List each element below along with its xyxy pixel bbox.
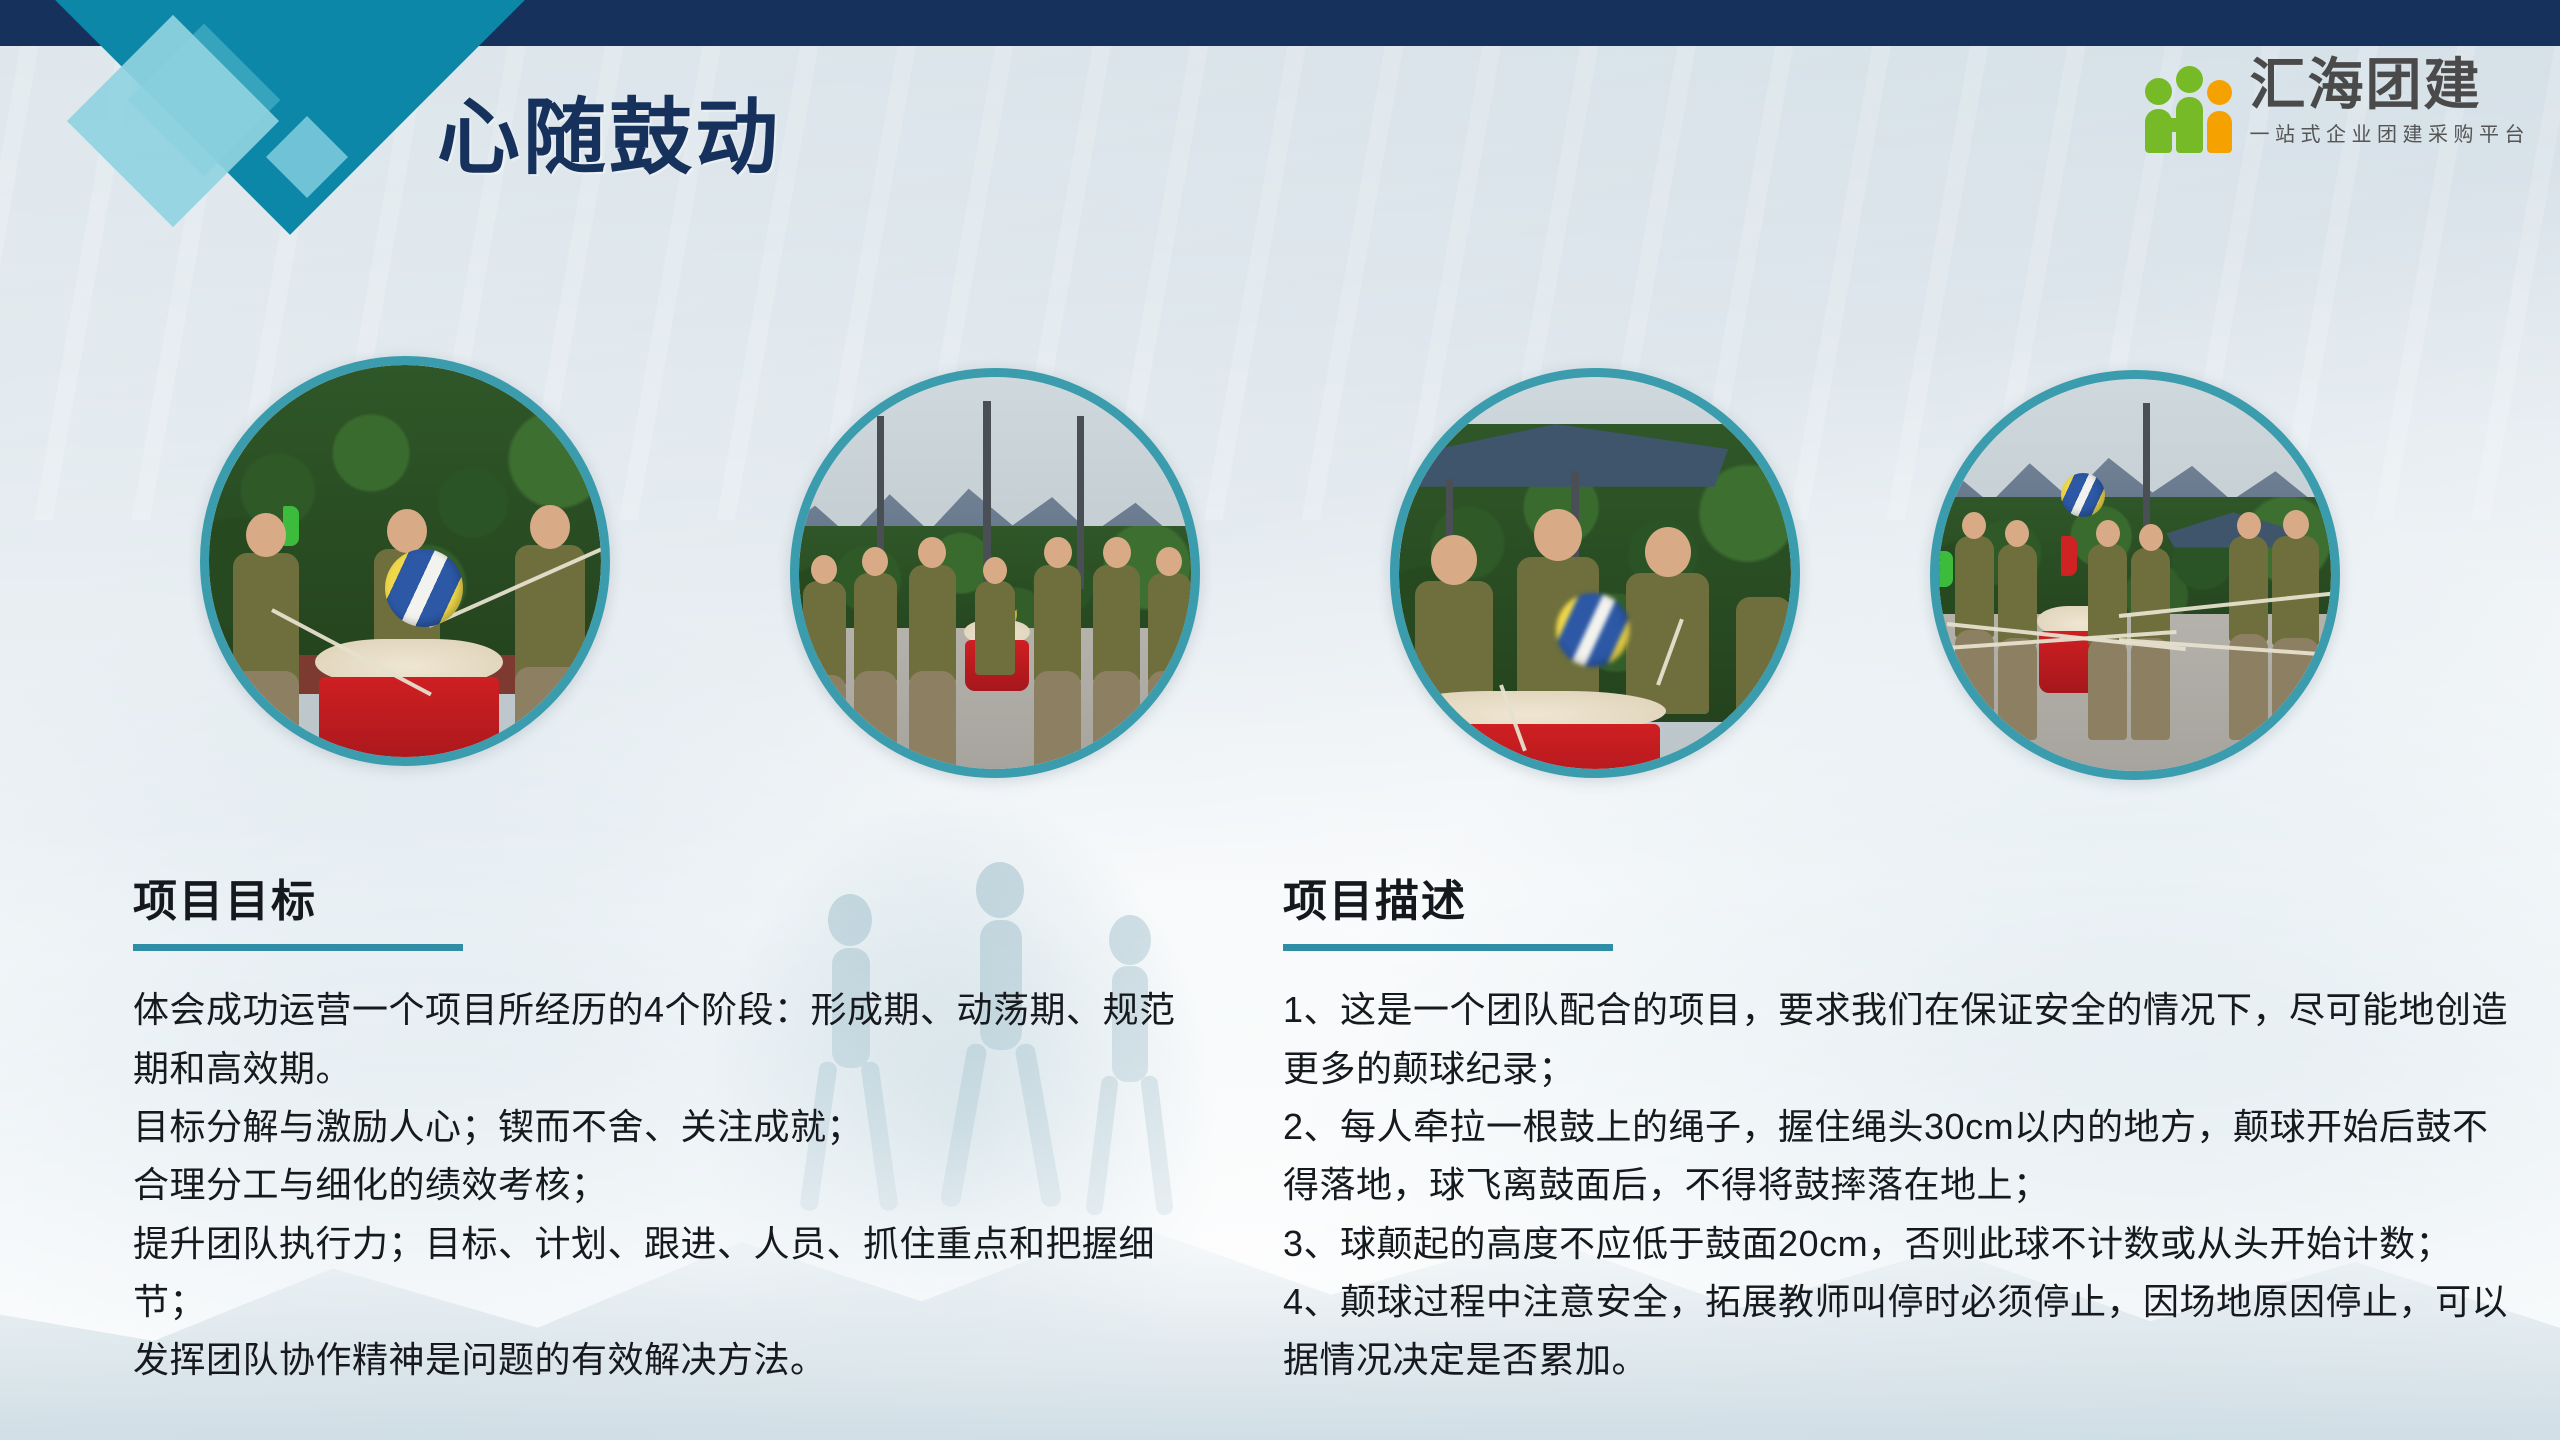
photo-three-men-drum-rope [200, 356, 610, 766]
project-description-section: 项目描述 1、这是一个团队配合的项目，要求我们在保证安全的情况下，尽可能地创造更… [1283, 878, 2523, 1390]
project-description-line: 3、球颠起的高度不应低于鼓面20cm，否则此球不计数或从头开始计数； [1283, 1215, 2523, 1273]
hi-people-logo-icon [2144, 56, 2236, 142]
project-description-line: 2、每人牵拉一根鼓上的绳子，握住绳头30cm以内的地方，颠球开始后鼓不得落地，球… [1283, 1098, 2523, 1215]
project-goal-line: 合理分工与细化的绩效考核； [133, 1156, 1193, 1214]
project-goal-line: 提升团队执行力；目标、计划、跟进、人员、抓住重点和把握细节； [133, 1215, 1193, 1332]
photo-full-team-drum-ropes [1930, 370, 2340, 780]
project-description-heading: 项目描述 [1283, 878, 2523, 926]
photo-team-circle-mountains [790, 368, 1200, 778]
project-goal-line: 体会成功运营一个项目所经历的4个阶段：形成期、动荡期、规范期和高效期。 [133, 981, 1193, 1098]
project-goal-body: 体会成功运营一个项目所经历的4个阶段：形成期、动荡期、规范期和高效期。 目标分解… [133, 981, 1193, 1389]
project-description-rule [1283, 944, 1613, 951]
slide-canvas: 心随鼓动 汇海团建 一站式企业团建采购平台 [0, 0, 2560, 1440]
project-goal-line: 发挥团队协作精神是问题的有效解决方法。 [133, 1331, 1193, 1389]
photo-gallery [0, 348, 2560, 788]
brand-logo: 汇海团建 一站式企业团建采购平台 [2144, 56, 2531, 147]
project-description-line: 1、这是一个团队配合的项目，要求我们在保证安全的情况下，尽可能地创造更多的颠球纪… [1283, 981, 2523, 1098]
project-goal-heading: 项目目标 [133, 878, 1193, 926]
photo-women-cheering-ball [1390, 368, 1800, 778]
brand-tagline: 一站式企业团建采购平台 [2250, 118, 2531, 147]
brand-name: 汇海团建 [2250, 56, 2531, 113]
project-goal-rule [133, 944, 463, 951]
page-title: 心随鼓动 [437, 96, 781, 179]
project-goal-line: 目标分解与激励人心；锲而不舍、关注成就； [133, 1098, 1193, 1156]
project-goal-section: 项目目标 体会成功运营一个项目所经历的4个阶段：形成期、动荡期、规范期和高效期。… [133, 878, 1193, 1390]
project-description-body: 1、这是一个团队配合的项目，要求我们在保证安全的情况下，尽可能地创造更多的颠球纪… [1283, 981, 2523, 1389]
project-description-line: 4、颠球过程中注意安全，拓展教师叫停时必须停止，因场地原因停止，可以据情况决定是… [1283, 1273, 2523, 1390]
